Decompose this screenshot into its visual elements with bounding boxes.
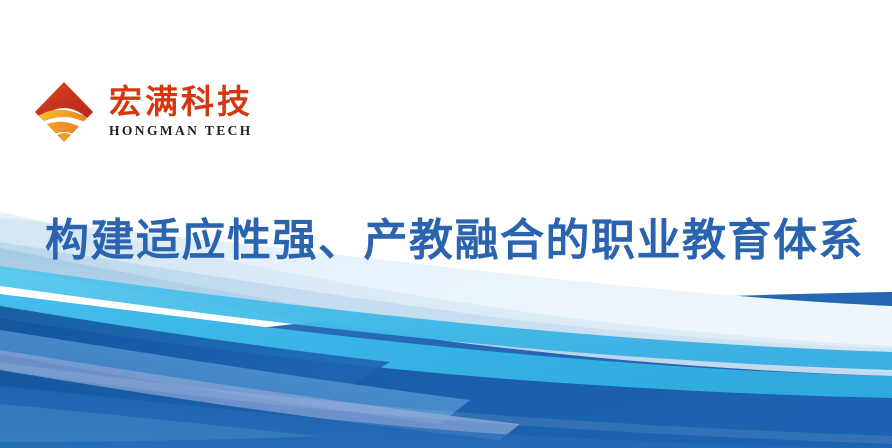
page-title: 构建适应性强、产教融合的职业教育体系 <box>45 216 864 265</box>
company-logo: 宏满科技 HONGMAN TECH <box>33 80 253 144</box>
wave-deep-main <box>0 318 892 448</box>
wave-cyan-ribbon <box>0 266 892 370</box>
wave-sky-ribbon <box>0 294 892 416</box>
logo-company-name-en: HONGMAN TECH <box>109 123 253 139</box>
wave-base <box>0 292 892 448</box>
wave-highlight-sheen <box>0 362 892 444</box>
logo-wordmark: 宏满科技 HONGMAN TECH <box>109 85 253 140</box>
banner-slide: 宏满科技 HONGMAN TECH 构建适应性强、产教融合的职业教育体系 <box>0 0 892 448</box>
wave-mid-stripe <box>0 330 470 424</box>
hongman-diamond-mark-icon <box>33 80 95 144</box>
wave-light-arc <box>0 404 320 442</box>
wave-royal-sweep <box>0 386 892 448</box>
wave-periwinkle-stripe <box>0 350 520 440</box>
logo-company-name-cn: 宏满科技 <box>109 85 253 120</box>
wave-navy-stripe <box>0 306 390 392</box>
